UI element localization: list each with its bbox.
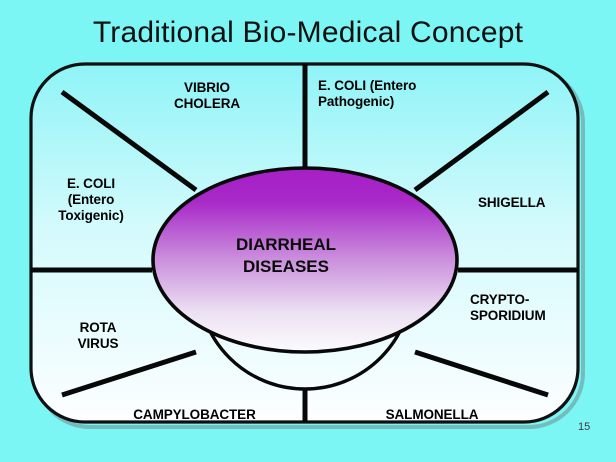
segment-label-vibrio-cholera: VIBRIO CHOLERA xyxy=(137,80,277,112)
diagram-canvas xyxy=(0,0,616,462)
slide-canvas: Traditional Bio-Medical Concept xyxy=(0,0,616,462)
segment-label-campylobacter: CAMPYLOBACTER xyxy=(112,407,277,423)
segment-label-shigella: SHIGELLA xyxy=(478,195,588,211)
segment-label-rota-virus: ROTA VIRUS xyxy=(43,320,153,352)
segment-label-e-coli-entero-toxigenic: E. COLI (Entero Toxigenic) xyxy=(34,176,148,224)
page-number: 15 xyxy=(578,421,590,433)
segment-label-e-coli-entero-pathogenic: E. COLI (Entero Pathogenic) xyxy=(318,78,493,110)
segment-label-cryptosporidium: CRYPTO- SPORIDIUM xyxy=(470,292,590,324)
segment-label-salmonella: SALMONELLA xyxy=(367,407,497,423)
center-label: DIARRHEAL DISEASES xyxy=(186,234,386,278)
